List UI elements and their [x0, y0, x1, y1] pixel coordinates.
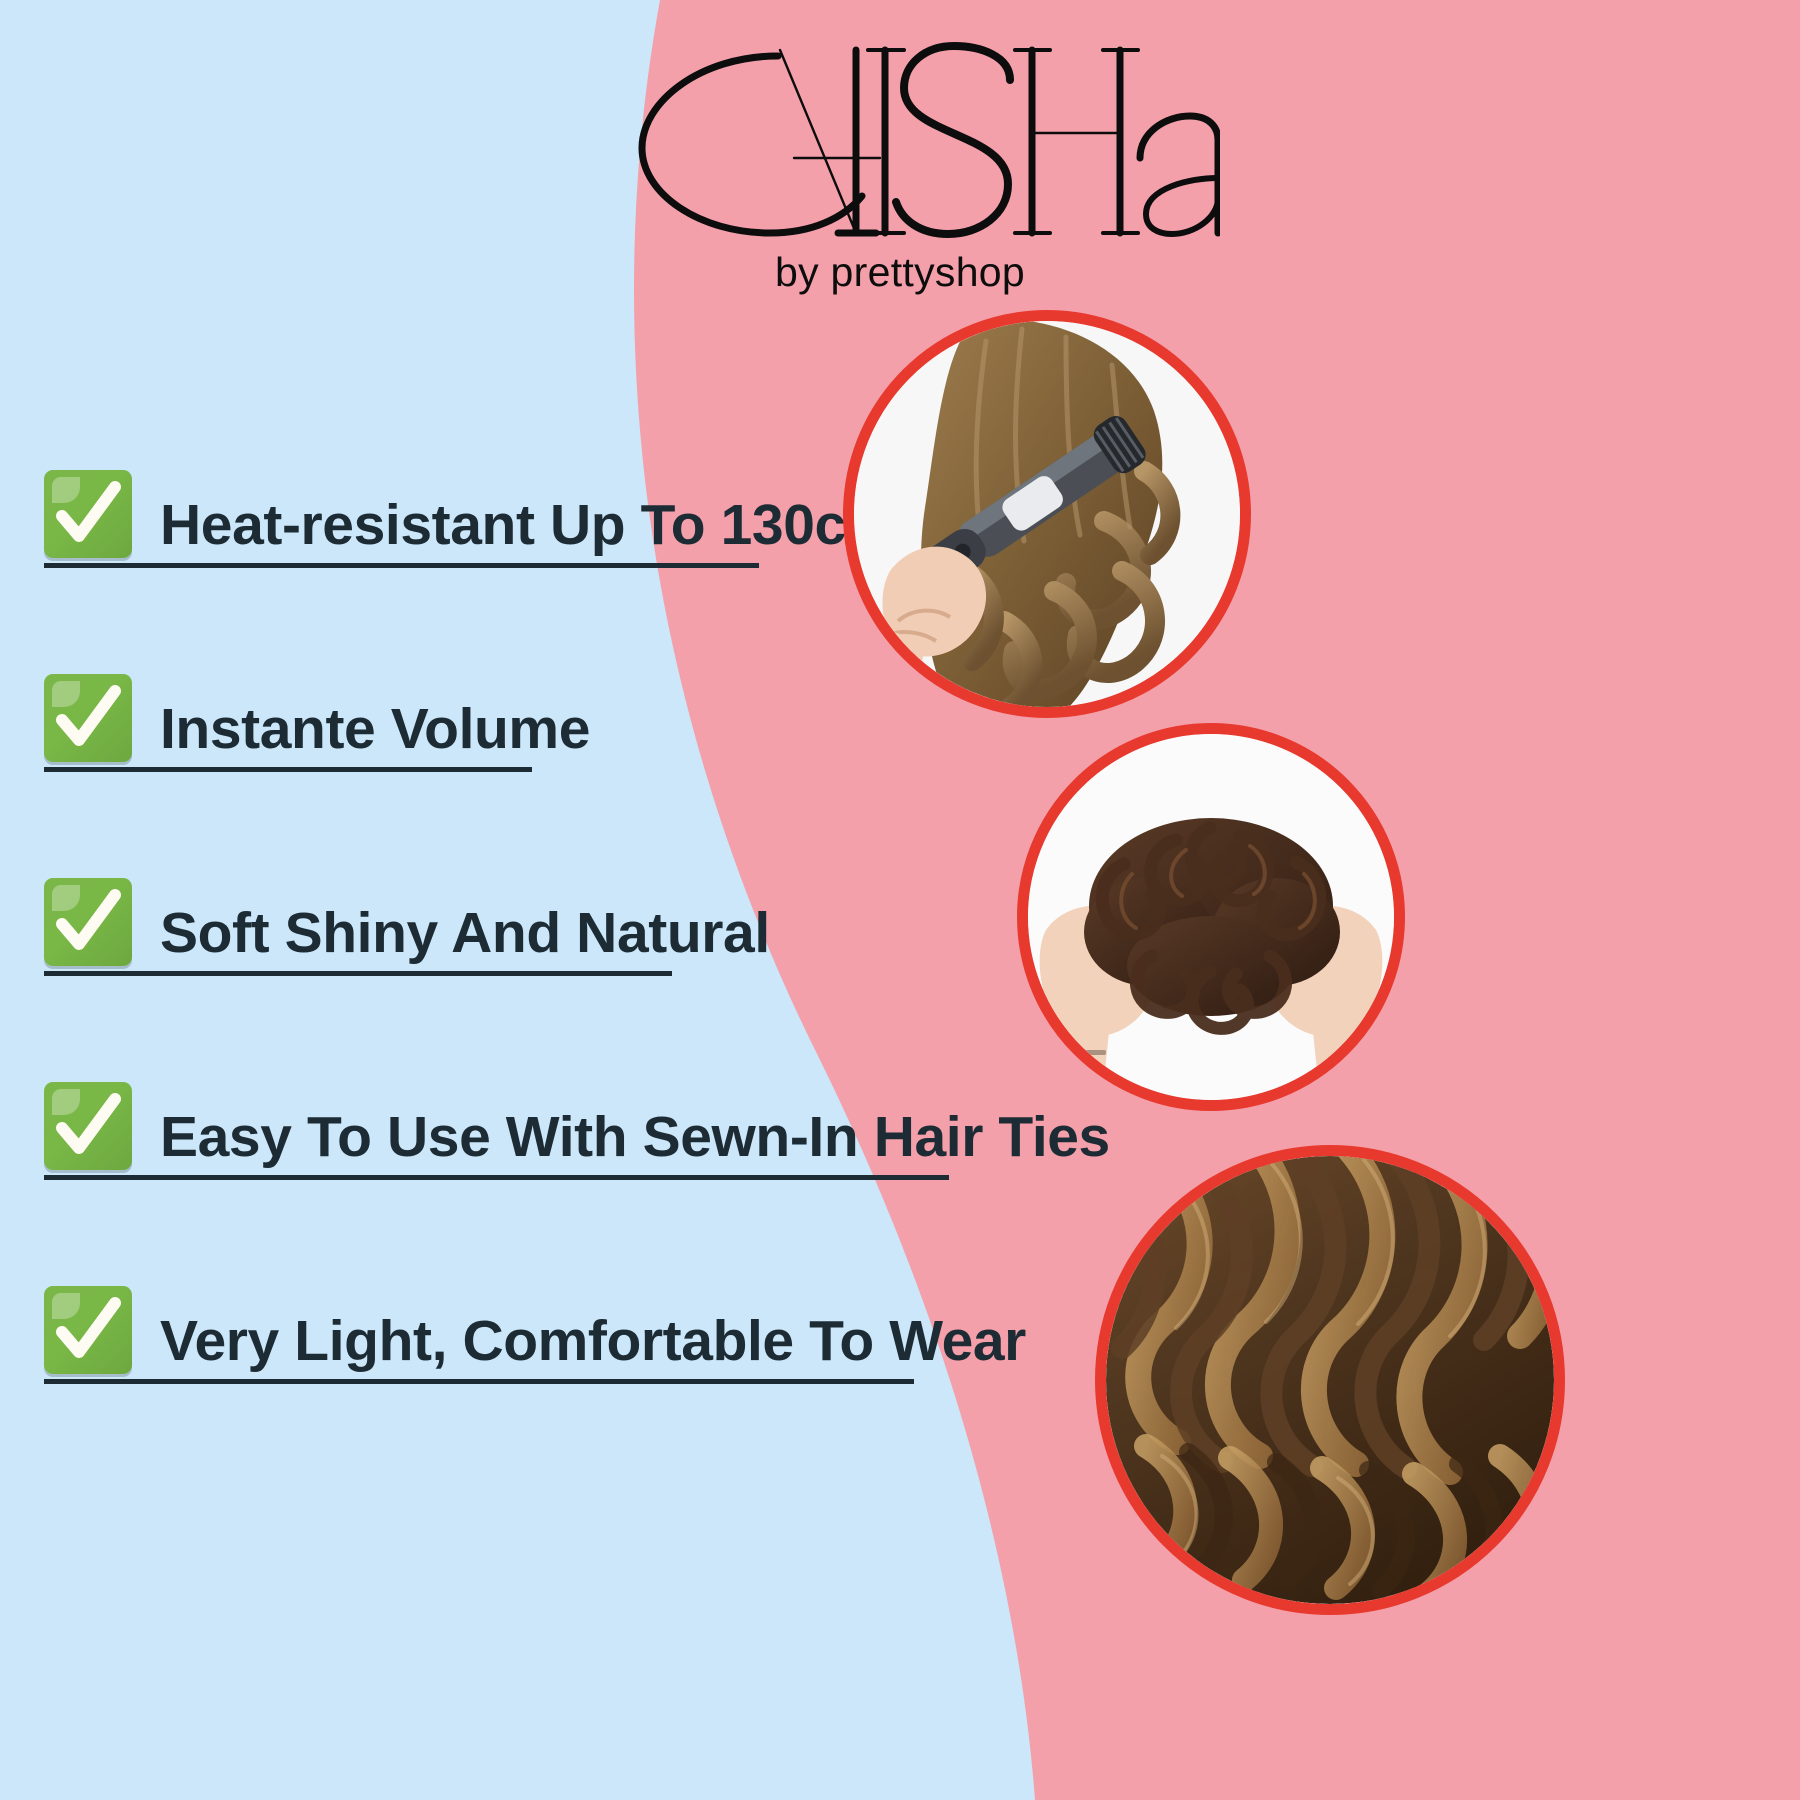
caisha-wordmark-logo [580, 28, 1220, 243]
check-icon [44, 878, 132, 966]
check-icon [44, 1082, 132, 1170]
brand-tagline: by prettyshop [0, 249, 1800, 296]
feature-item: Instante Volume [44, 674, 994, 762]
feature-underline [44, 767, 532, 772]
feature-underline [44, 971, 672, 976]
check-icon [44, 470, 132, 558]
photo-curly-hair-closeup [1095, 1145, 1565, 1615]
feature-label: Heat-resistant Up To 130c° [160, 496, 868, 554]
feature-underline [44, 1175, 949, 1180]
feature-item: Very Light, Comfortable To Wear [44, 1286, 994, 1374]
feature-underline [44, 1379, 914, 1384]
check-icon [44, 1286, 132, 1374]
brand-logo-block: by prettyshop [0, 28, 1800, 296]
feature-item: Easy To Use With Sewn-In Hair Ties [44, 1082, 994, 1170]
feature-label: Easy To Use With Sewn-In Hair Ties [160, 1108, 1110, 1166]
feature-item: Soft Shiny And Natural [44, 878, 994, 966]
feature-list: Heat-resistant Up To 130c° Instante Volu… [44, 470, 994, 1374]
photo-curling-iron-on-hair: 130 [843, 310, 1251, 718]
check-icon [44, 674, 132, 762]
feature-label: Very Light, Comfortable To Wear [160, 1312, 1026, 1370]
feature-underline [44, 563, 759, 568]
photo-hands-holding-hairpiece [1017, 723, 1405, 1111]
feature-label: Soft Shiny And Natural [160, 904, 770, 962]
feature-label: Instante Volume [160, 700, 590, 758]
